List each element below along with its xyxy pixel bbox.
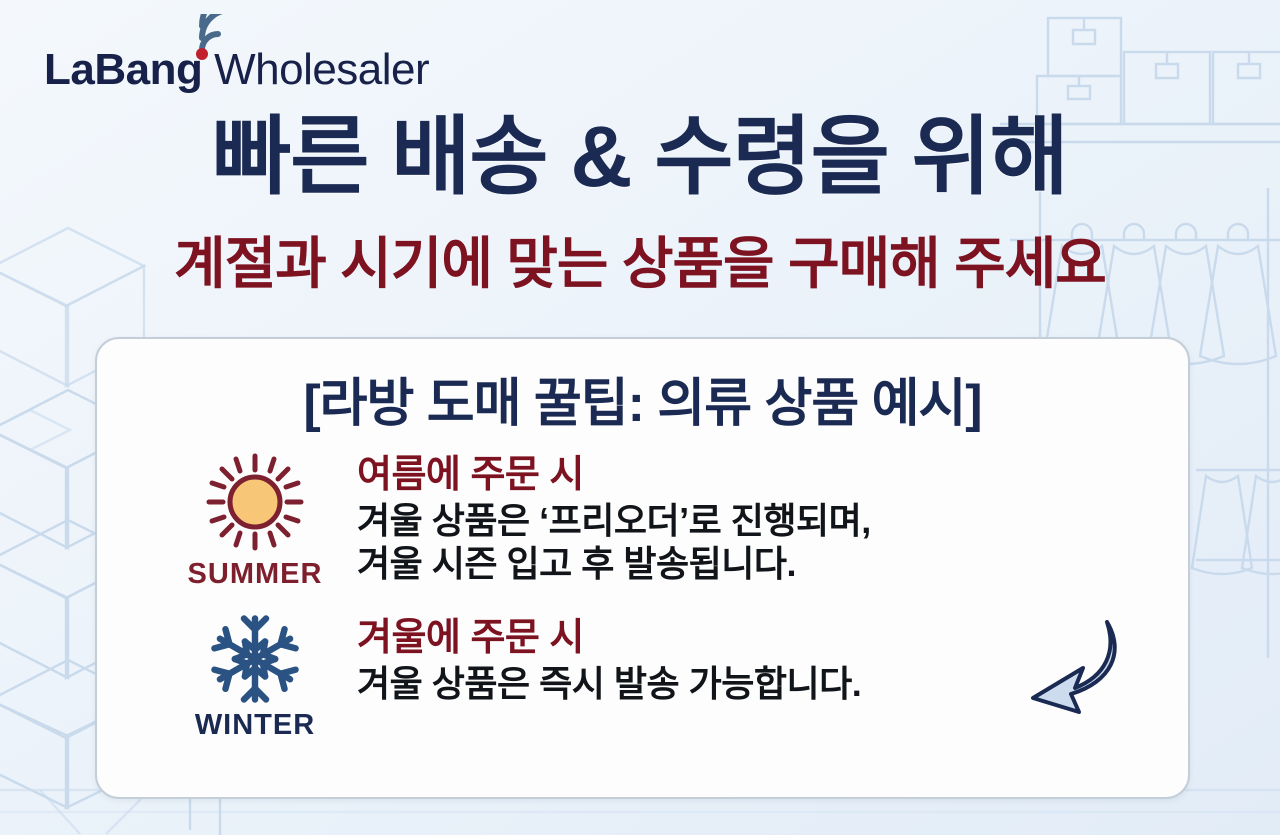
poster-canvas: LaBang Wholesaler 빠른 배송 & 수령을 위해 계절과 시기에…	[0, 0, 1280, 835]
tips-card: [라방 도매 꿀팁: 의류 상품 예시]	[95, 337, 1190, 799]
page-subtitle: 계절과 시기에 맞는 상품을 구매해 주세요	[0, 236, 1280, 292]
season-heading-summer: 여름에 주문 시	[357, 454, 1188, 497]
season-label-summer: SUMMER	[188, 558, 323, 591]
season-body-summer: 여름에 주문 시 겨울 상품은 ‘프리오더’로 진행되며, 겨울 시즌 입고 후…	[335, 450, 1188, 586]
page-title: 빠른 배송 & 수령을 위해	[0, 114, 1280, 200]
season-badge-summer: SUMMER	[175, 450, 335, 591]
season-text-line: 겨울 상품은 ‘프리오더’로 진행되며,	[357, 499, 1188, 543]
season-row-summer: SUMMER 여름에 주문 시 겨울 상품은 ‘프리오더’로 진행되며, 겨울 …	[97, 450, 1188, 591]
season-label-winter: WINTER	[195, 709, 315, 742]
brand-name-bold: LaBang	[44, 45, 202, 94]
brand-logo[interactable]: LaBang Wholesaler	[44, 30, 429, 92]
card-title: [라방 도매 꿀팁: 의류 상품 예시]	[97, 361, 1188, 436]
snowflake-icon	[209, 613, 301, 705]
sun-icon	[203, 450, 307, 554]
season-badge-winter: WINTER	[175, 613, 335, 742]
wifi-signal-icon	[190, 14, 262, 60]
curved-arrow-down-left-icon	[1013, 618, 1133, 714]
season-text-summer: 겨울 상품은 ‘프리오더’로 진행되며, 겨울 시즌 입고 후 발송됩니다.	[357, 499, 1188, 587]
logo-dot-icon	[196, 48, 208, 60]
season-text-line: 겨울 시즌 입고 후 발송됩니다.	[357, 542, 1188, 586]
